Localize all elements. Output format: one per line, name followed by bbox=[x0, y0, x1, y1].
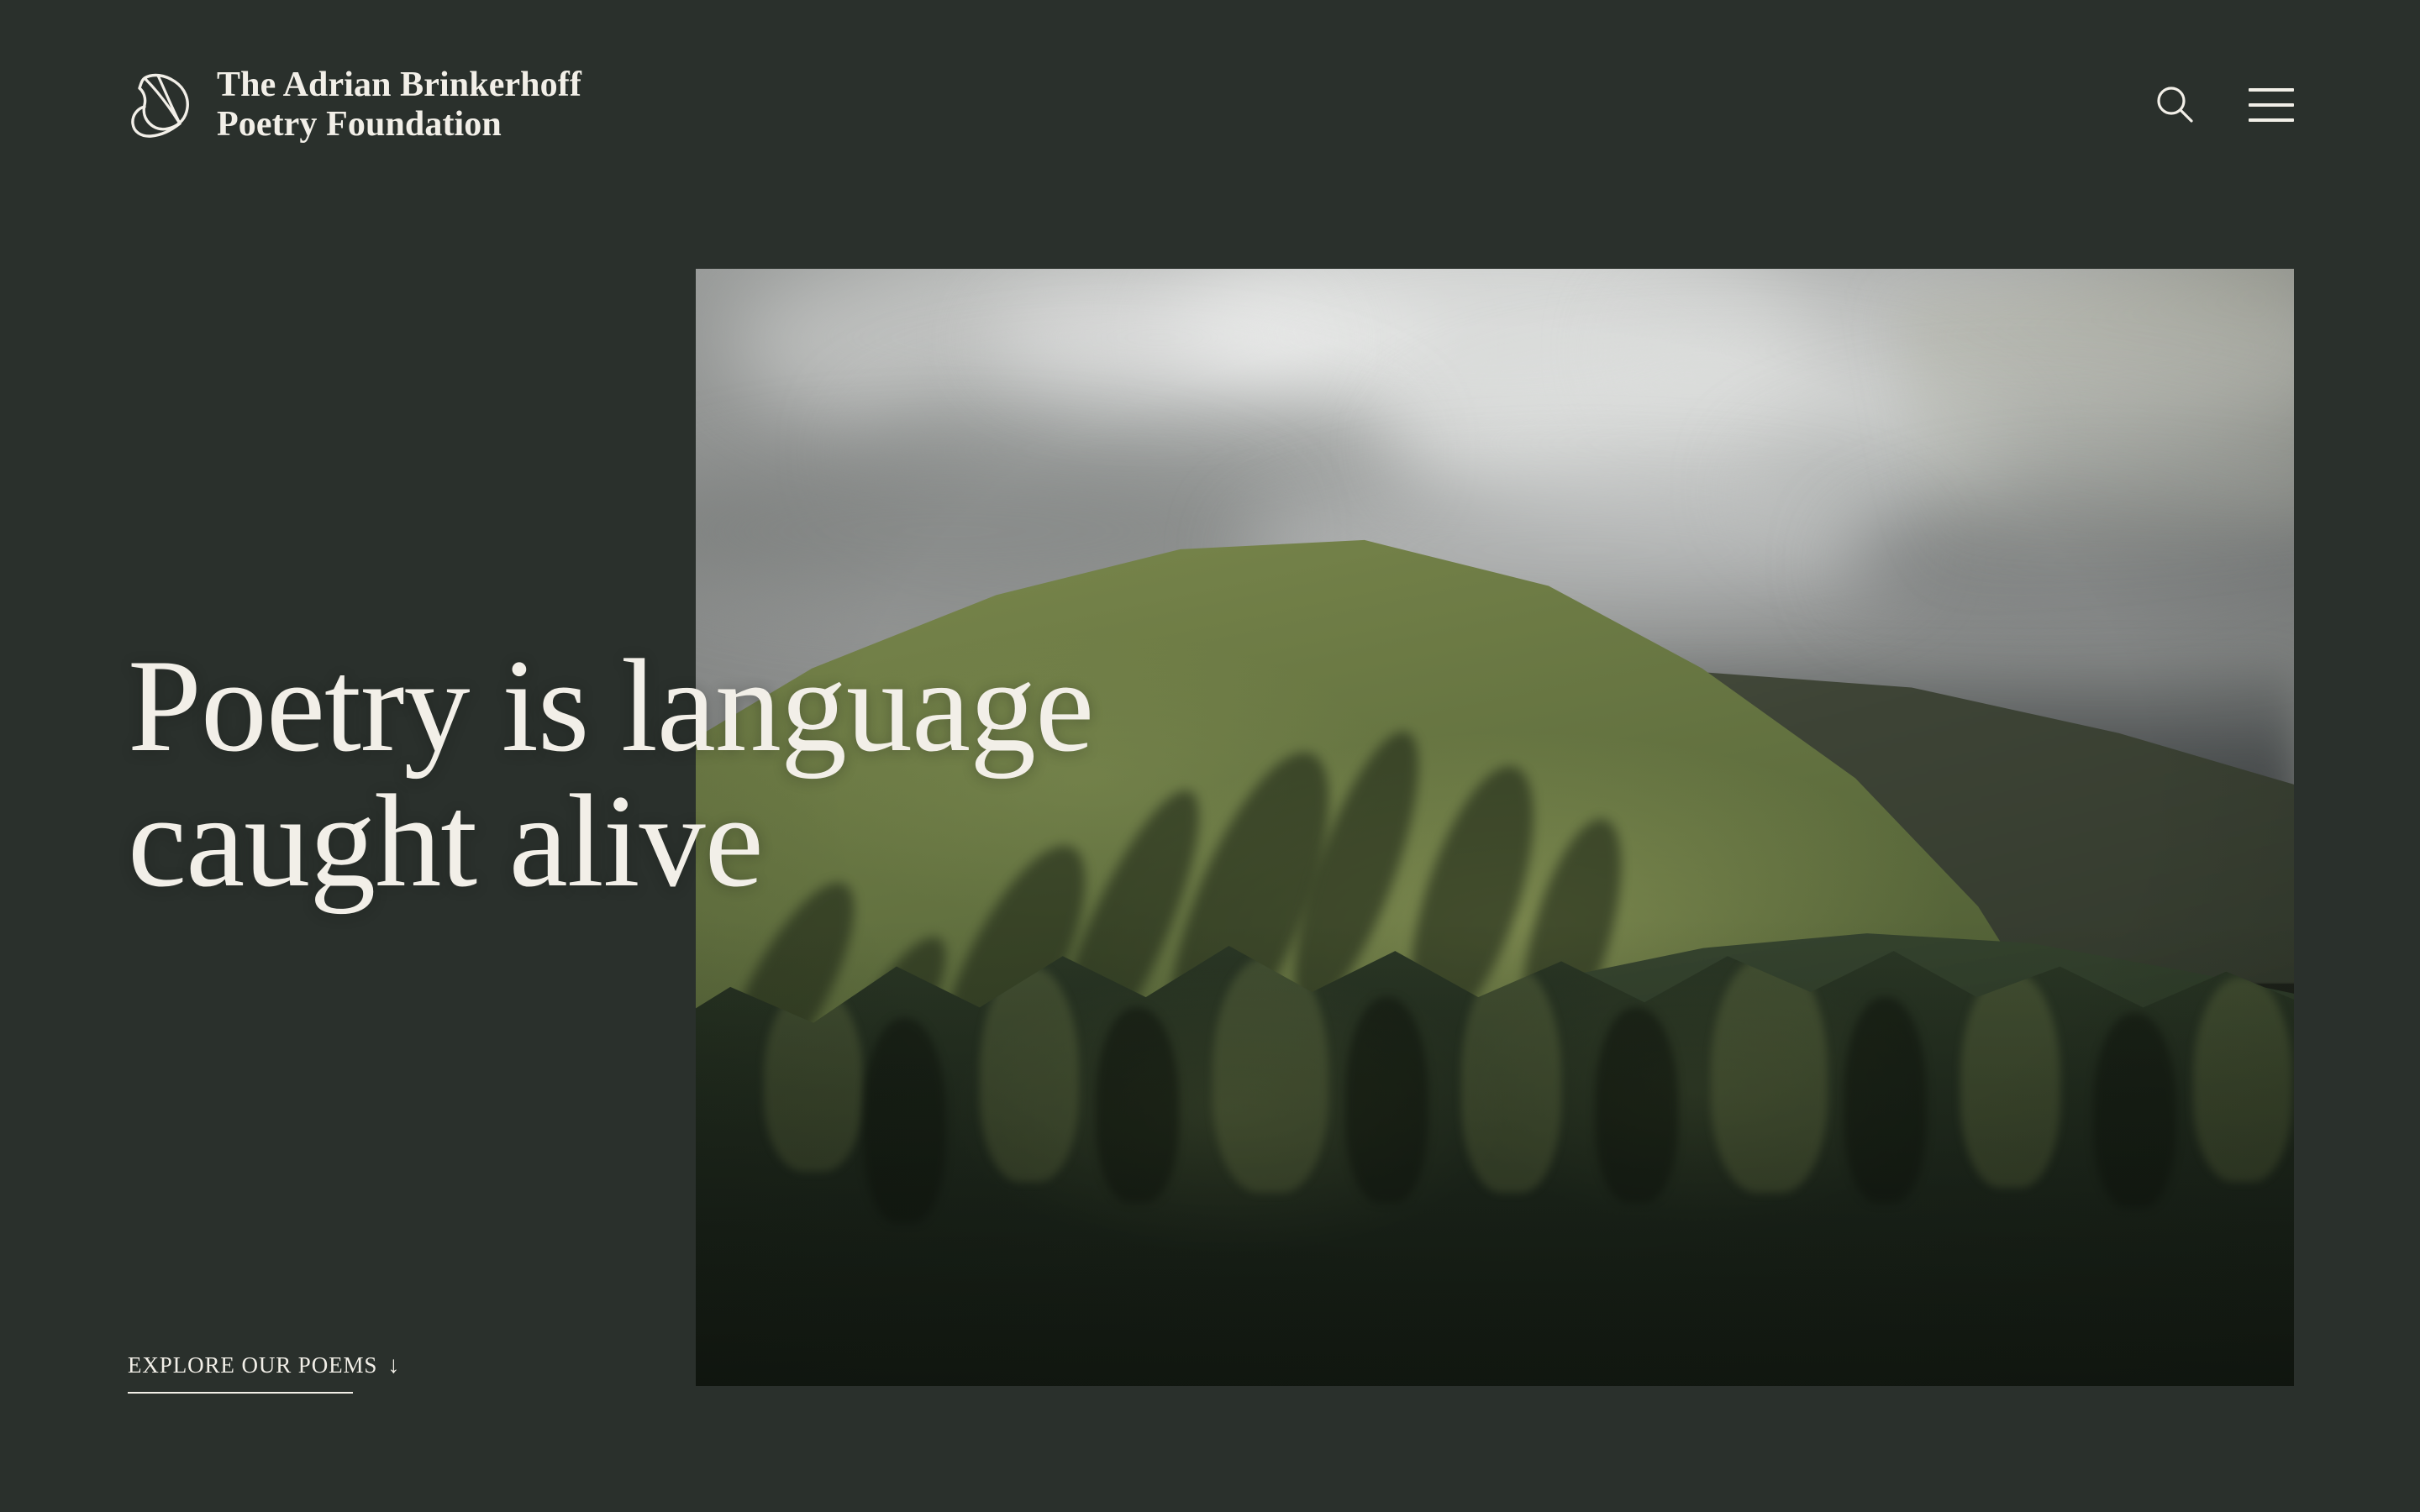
header-actions bbox=[2153, 83, 2294, 127]
search-icon bbox=[2153, 83, 2196, 127]
cta-label: EXPLORE OUR POEMS bbox=[128, 1352, 377, 1378]
explore-our-poems-link[interactable]: EXPLORE OUR POEMS ↓ bbox=[128, 1352, 399, 1394]
homepage-hero-page: The Adrian Brinkerhoff Poetry Foundation bbox=[0, 0, 2420, 1512]
hamburger-menu-icon bbox=[2249, 88, 2294, 122]
arrow-down-icon: ↓ bbox=[387, 1353, 399, 1377]
cta-row: EXPLORE OUR POEMS ↓ bbox=[128, 1352, 399, 1392]
menu-button[interactable] bbox=[2249, 88, 2294, 122]
brand-logo-link[interactable]: The Adrian Brinkerhoff Poetry Foundation bbox=[128, 66, 581, 144]
hero-copy: Poetry is language caught alive bbox=[128, 638, 1439, 909]
lens-flare-patch bbox=[1892, 269, 2294, 587]
brand-name: The Adrian Brinkerhoff Poetry Foundation bbox=[217, 66, 581, 144]
page-title: Poetry is language caught alive bbox=[128, 638, 1439, 909]
leaf-quill-mark-icon bbox=[128, 68, 193, 142]
site-header: The Adrian Brinkerhoff Poetry Foundation bbox=[0, 0, 2420, 210]
cta-underline bbox=[128, 1392, 353, 1394]
search-button[interactable] bbox=[2153, 83, 2196, 127]
